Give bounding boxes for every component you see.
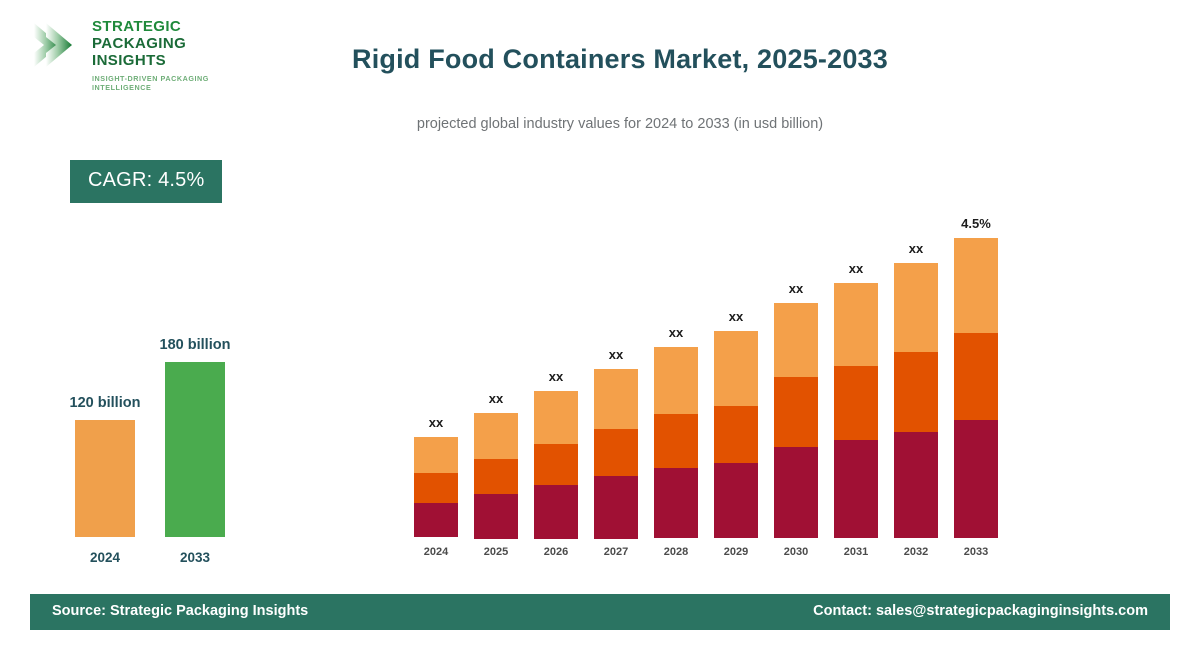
brand-name-line1: STRATEGIC [92,18,250,35]
stacked-bar-segment-segment-2 [654,414,698,468]
stacked-bar-segment-segment-3 [714,331,758,406]
brand-tagline: INSIGHT-DRIVEN PACKAGING INTELLIGENCE [92,74,250,92]
stacked-bar-segment-segment-2 [534,444,578,485]
brand-logo: STRATEGIC PACKAGING INSIGHTS INSIGHT-DRI… [30,18,250,78]
stacked-bar-segment-segment-1 [414,503,458,537]
stacked-bar [414,437,458,538]
stacked-bar-segment-segment-1 [714,463,758,538]
stacked-bar-segment-segment-2 [714,406,758,463]
stacked-bar-segment-segment-1 [774,447,818,538]
stacked-bar [594,369,638,538]
stacked-bar-segment-segment-3 [654,347,698,414]
stacked-bar-year-label: 2024 [406,546,466,558]
stacked-bar-segment-segment-2 [954,333,998,420]
stacked-bar-year-label: 2026 [526,546,586,558]
stacked-bar-segment-segment-2 [894,352,938,432]
headline-bar-value-label: 180 billion [115,337,275,353]
stacked-bar-segment-segment-3 [474,413,518,459]
stacked-bar-year-label: 2033 [946,546,1006,558]
brand-name-line2: PACKAGING INSIGHTS [92,35,250,69]
stacked-bar-value-label: xx [886,241,946,256]
page-title: Rigid Food Containers Market, 2025-2033 [240,44,1000,75]
stacked-bar-segment-segment-3 [594,369,638,429]
stacked-bar [774,303,818,538]
footer-bar: Source: Strategic Packaging Insights Con… [30,594,1170,630]
headline-bar-year-label: 2033 [150,550,240,565]
stacked-bar-segment-segment-2 [774,377,818,447]
stacked-bar-segment-segment-2 [414,473,458,503]
stacked-bar-segment-segment-1 [834,440,878,538]
stacked-bar-segment-segment-2 [834,366,878,440]
stacked-bar-segment-segment-2 [594,429,638,476]
stacked-bar-year-label: 2031 [826,546,886,558]
stacked-bar-segment-segment-3 [534,391,578,444]
stacked-bar-segment-segment-3 [774,303,818,377]
brand-wordmark: STRATEGIC PACKAGING INSIGHTS INSIGHT-DRI… [92,18,250,92]
stacked-bar-year-label: 2030 [766,546,826,558]
stacked-bar-year-label: 2027 [586,546,646,558]
stacked-bar [534,391,578,538]
stacked-bar-segment-segment-3 [954,238,998,333]
stacked-bar-value-label: xx [766,281,826,296]
stacked-bar-segment-segment-1 [474,494,518,539]
footer-contact: Contact: sales@strategicpackaginginsight… [813,603,1148,619]
stacked-bar-segment-segment-2 [474,459,518,494]
stacked-bar-year-label: 2029 [706,546,766,558]
headline-bar-year-label: 2024 [60,550,150,565]
green-chevron-icon [30,20,82,70]
infographic-page: STRATEGIC PACKAGING INSIGHTS INSIGHT-DRI… [0,0,1200,650]
stacked-bar [954,238,998,538]
headline-comparison-chart: 120 billion2024180 billion2033 [55,300,275,570]
stacked-bar-segment-segment-1 [534,485,578,539]
stacked-bar [894,263,938,538]
footer-source: Source: Strategic Packaging Insights [52,603,308,619]
stacked-bar [834,283,878,538]
stacked-bar [654,347,698,538]
stacked-bar-segment-segment-1 [954,420,998,538]
headline-bar [165,362,225,537]
stacked-bar [474,413,518,538]
stacked-bar-segment-segment-1 [654,468,698,538]
stacked-bar-value-label: xx [586,347,646,362]
yearly-forecast-chart: xx2024xx2025xx2026xx2027xx2028xx2029xx20… [400,195,1010,560]
stacked-bar-value-label: xx [646,325,706,340]
stacked-bar-value-label: 4.5% [946,216,1006,231]
page-subtitle: projected global industry values for 202… [240,116,1000,132]
stacked-bar-segment-segment-3 [894,263,938,352]
headline-bar [75,420,135,537]
stacked-bar-year-label: 2025 [466,546,526,558]
stacked-bar-segment-segment-1 [594,476,638,539]
stacked-bar-value-label: xx [526,369,586,384]
headline-bar-value-label: 120 billion [25,395,185,411]
cagr-badge: CAGR: 4.5% [70,160,222,203]
stacked-bar-segment-segment-3 [834,283,878,366]
stacked-bar-segment-segment-3 [414,437,458,473]
stacked-bar-value-label: xx [826,261,886,276]
stacked-bar-segment-segment-1 [894,432,938,538]
stacked-bar-year-label: 2028 [646,546,706,558]
stacked-bar [714,331,758,538]
stacked-bar-year-label: 2032 [886,546,946,558]
stacked-bar-value-label: xx [406,415,466,430]
stacked-bar-value-label: xx [706,309,766,324]
stacked-bar-value-label: xx [466,391,526,406]
